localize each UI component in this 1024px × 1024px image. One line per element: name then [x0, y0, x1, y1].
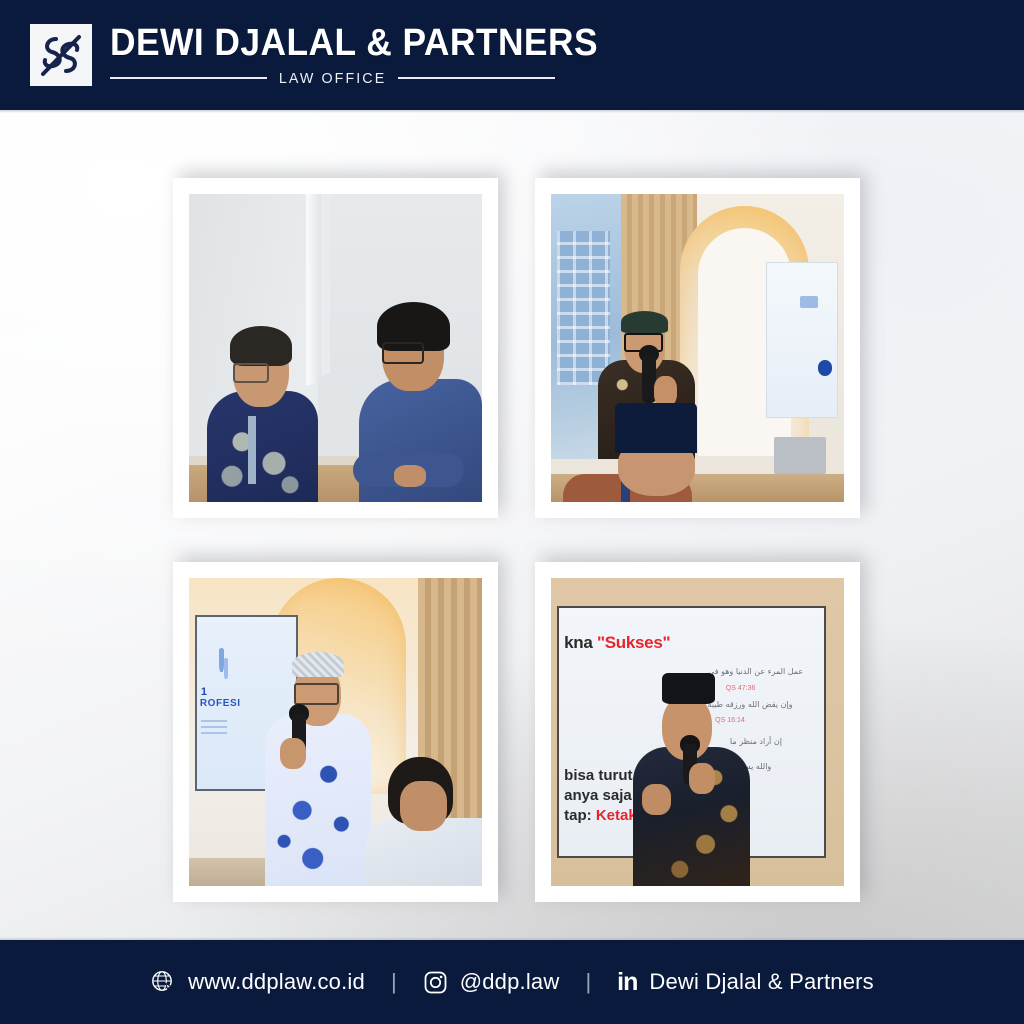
footer-bar: www.ddplaw.co.id | @ddp.law | in Dewi Dj…: [0, 940, 1024, 1024]
photo-4-arabic-1: عمل المرء عن الدنيا وهو في: [708, 667, 803, 676]
globe-icon: [150, 969, 176, 995]
photo-3-slide-line-1: 1: [201, 686, 208, 698]
ddp-monogram-logo-icon: [30, 24, 92, 86]
photo-4-arabic-2: وإن يقض الله ورزقه طيبة: [708, 700, 793, 709]
photo-2: [551, 194, 844, 502]
brand-lockup: DEWI DJALAL & PARTNERS LAW OFFICE: [110, 24, 635, 87]
brand-name: DEWI DJALAL & PARTNERS: [110, 24, 598, 62]
photo-4-ref-1: QS 47:36: [726, 685, 756, 692]
footer-separator-1: |: [391, 969, 397, 995]
photo-frame-4[interactable]: kna "Sukses" عمل المرء عن الدنيا وهو في …: [535, 562, 860, 902]
rule-left: [110, 77, 267, 79]
photo-frame-3[interactable]: 1 ROFESI: [173, 562, 498, 902]
photo-3-slide-line-2: ROFESI: [200, 698, 241, 709]
photo-3: 1 ROFESI: [189, 578, 482, 886]
footer-instagram[interactable]: @ddp.law: [423, 969, 560, 995]
brand-subtitle-row: LAW OFFICE: [110, 70, 555, 87]
photo-4-arabic-3: إن أراد منظر ما: [730, 737, 782, 746]
photo-1: [189, 194, 482, 502]
photo-frame-2[interactable]: [535, 178, 860, 518]
footer-website-label: www.ddplaw.co.id: [188, 969, 365, 995]
footer-linkedin[interactable]: in Dewi Djalal & Partners: [617, 968, 874, 997]
footer-instagram-label: @ddp.law: [460, 969, 560, 995]
footer-website[interactable]: www.ddplaw.co.id: [150, 969, 365, 995]
footer-separator-2: |: [585, 969, 591, 995]
linkedin-icon: in: [617, 968, 637, 997]
header-bar: DEWI DJALAL & PARTNERS LAW OFFICE: [0, 0, 1024, 110]
photo-grid: 1 ROFESI kna "Sukses": [0, 110, 1024, 940]
footer-linkedin-label: Dewi Djalal & Partners: [649, 969, 873, 995]
photo-4-slide-title: kna "Sukses": [564, 633, 670, 653]
photo-4: kna "Sukses" عمل المرء عن الدنيا وهو في …: [551, 578, 844, 886]
poster-canvas: DEWI DJALAL & PARTNERS LAW OFFICE: [0, 0, 1024, 1024]
photo-frame-1[interactable]: [173, 178, 498, 518]
rule-right: [398, 77, 555, 79]
instagram-icon: [423, 970, 448, 995]
photo-4-ref-2: QS 16:14: [715, 717, 745, 724]
brand-subtitle: LAW OFFICE: [279, 70, 386, 87]
photo-4-slide-line-3: tap: Ketak: [564, 807, 637, 824]
